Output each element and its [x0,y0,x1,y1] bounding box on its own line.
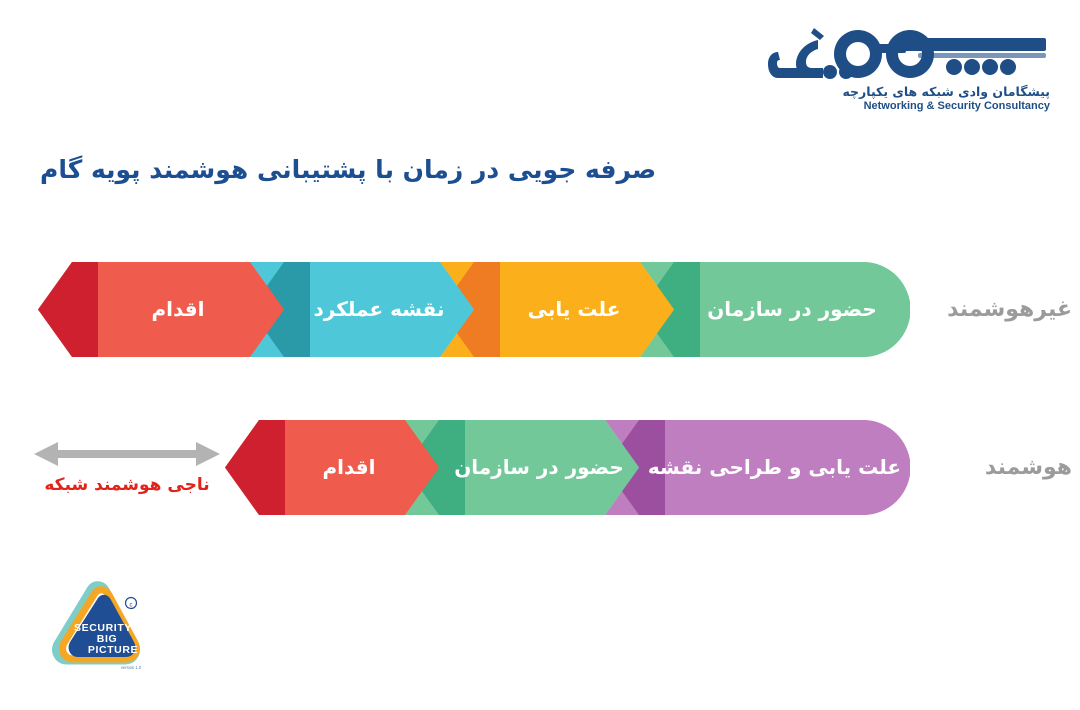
chevron-fold [38,262,98,357]
row-label-unintelligent: غیرهوشمند [922,262,1072,357]
svg-text:c: c [130,603,133,609]
savings-caption: ناجی هوشمند شبکه [32,472,222,498]
page-title: صرفه جویی در زمان با پشتیبانی هوشمند پوی… [40,150,1040,190]
chevron-body-front [500,262,674,357]
security-big-picture-badge: SECURITY BIG PICTURE c version 1.0 [45,578,149,678]
brand-logo: پیشگامان وادی شبکه های یکپارچه Networkin… [758,22,1058,114]
svg-text:version 1.0: version 1.0 [121,665,142,670]
chevron-body-front [700,262,910,357]
savings-indicator: ناجی هوشمند شبکه [32,440,222,510]
brand-wordmark-icon [758,22,1058,84]
row-label-intelligent: هوشمند [922,420,1072,515]
process-row-unintelligent: غیرهوشمند حضور در سازمانعلت یابینقشه عمل… [0,262,1080,357]
security-badge-icon: SECURITY BIG PICTURE c version 1.0 [45,578,149,678]
chevron-body-front [465,420,639,515]
chevron-body-front [310,262,474,357]
brand-tagline-fa: پیشگامان وادی شبکه های یکپارچه [842,84,1050,99]
chevron-chain-unintelligent [38,262,910,357]
chevron-body-front [98,262,284,357]
chevron-fold [225,420,285,515]
chevron-track-intelligent: علت یابی و طراحی نقشهحضور در سازماناقدام [225,420,910,515]
chevron-chain-intelligent [225,420,910,515]
svg-text:PICTURE: PICTURE [88,644,138,656]
brand-tagline-en: Networking & Security Consultancy [864,99,1050,113]
chevron-track-unintelligent: حضور در سازمانعلت یابینقشه عملکرداقدام [38,262,910,357]
double-arrow-icon [32,440,222,468]
chevron-body-front [665,420,910,515]
